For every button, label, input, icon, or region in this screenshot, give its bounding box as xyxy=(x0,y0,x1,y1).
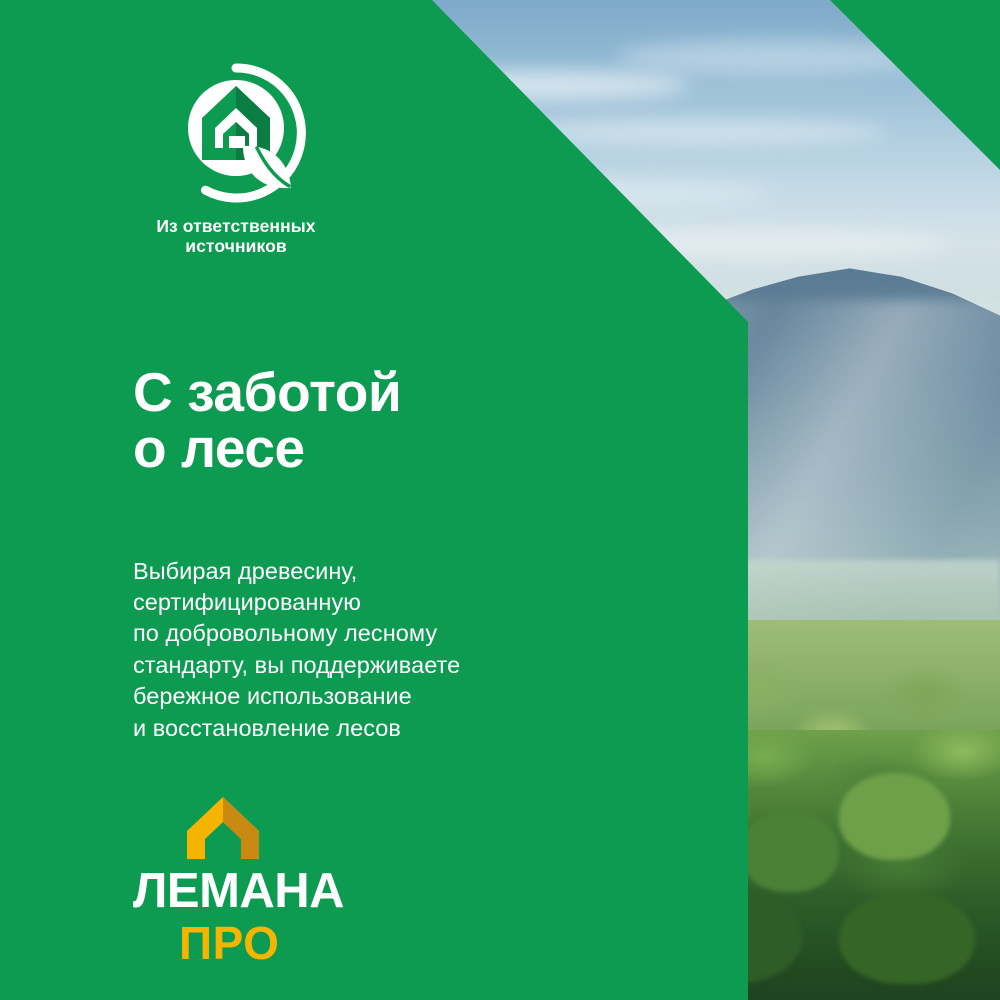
brand-name: ЛЕМАНА xyxy=(133,867,383,916)
responsible-sources-mark: Из ответственных источников xyxy=(131,62,341,257)
poster-root: Из ответственных источников С заботой о … xyxy=(0,0,1000,1000)
responsible-sources-caption: Из ответственных источников xyxy=(131,216,341,257)
house-leaf-circle-icon xyxy=(165,62,307,204)
page-title: С заботой о лесе xyxy=(133,364,401,477)
house-roof-icon xyxy=(185,795,261,861)
brand-lockup: ЛЕМАНА ПРО xyxy=(133,795,383,966)
brand-suffix: ПРО xyxy=(179,920,383,966)
content-layer: Из ответственных источников С заботой о … xyxy=(0,0,1000,1000)
body-copy: Выбирая древесину, сертифицированную по … xyxy=(133,556,460,745)
